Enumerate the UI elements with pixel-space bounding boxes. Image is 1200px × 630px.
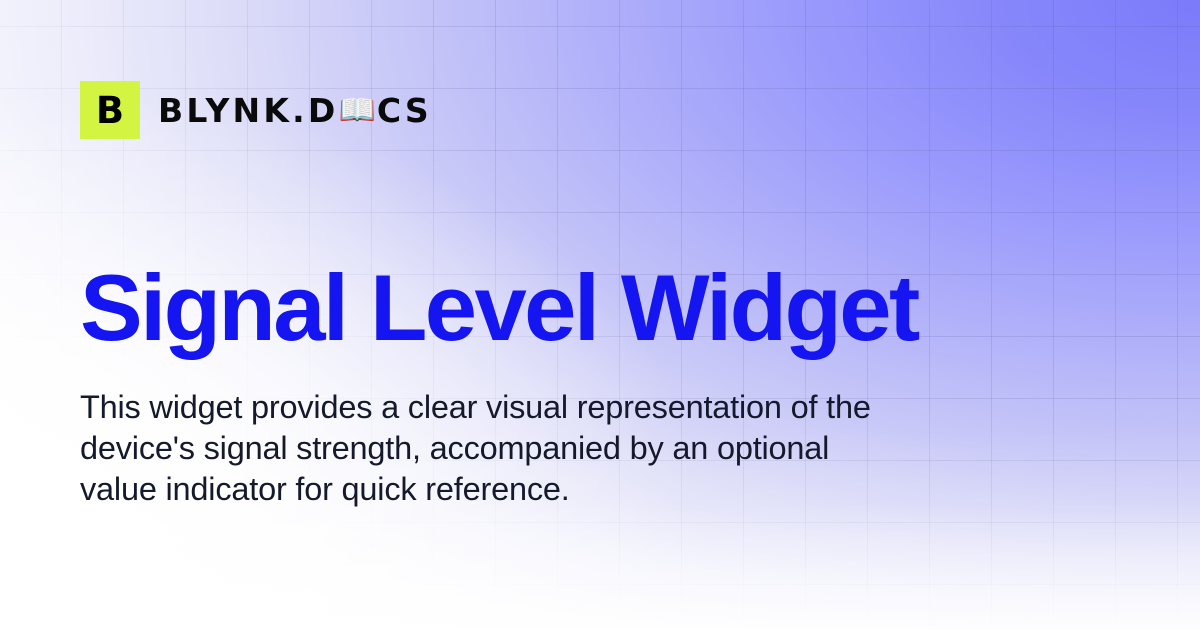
blynk-logo-mark: B <box>80 81 140 139</box>
page-title: Signal Level Widget <box>80 261 918 355</box>
blynk-docs-logo[interactable]: B BLYNK.D 📖 CS <box>80 81 432 139</box>
page-description: This widget provides a clear visual repr… <box>80 387 880 510</box>
wordmark-prefix: BLYNK.D <box>158 94 338 127</box>
blynk-logo-mark-letter: B <box>96 92 124 129</box>
og-preview-card: B BLYNK.D 📖 CS Signal Level Widget This … <box>0 0 1200 630</box>
open-book-icon: 📖 <box>338 96 375 126</box>
wordmark-suffix: CS <box>377 94 432 127</box>
card-content: B BLYNK.D 📖 CS Signal Level Widget This … <box>0 0 1200 630</box>
blynk-logo-wordmark: BLYNK.D 📖 CS <box>158 94 432 127</box>
